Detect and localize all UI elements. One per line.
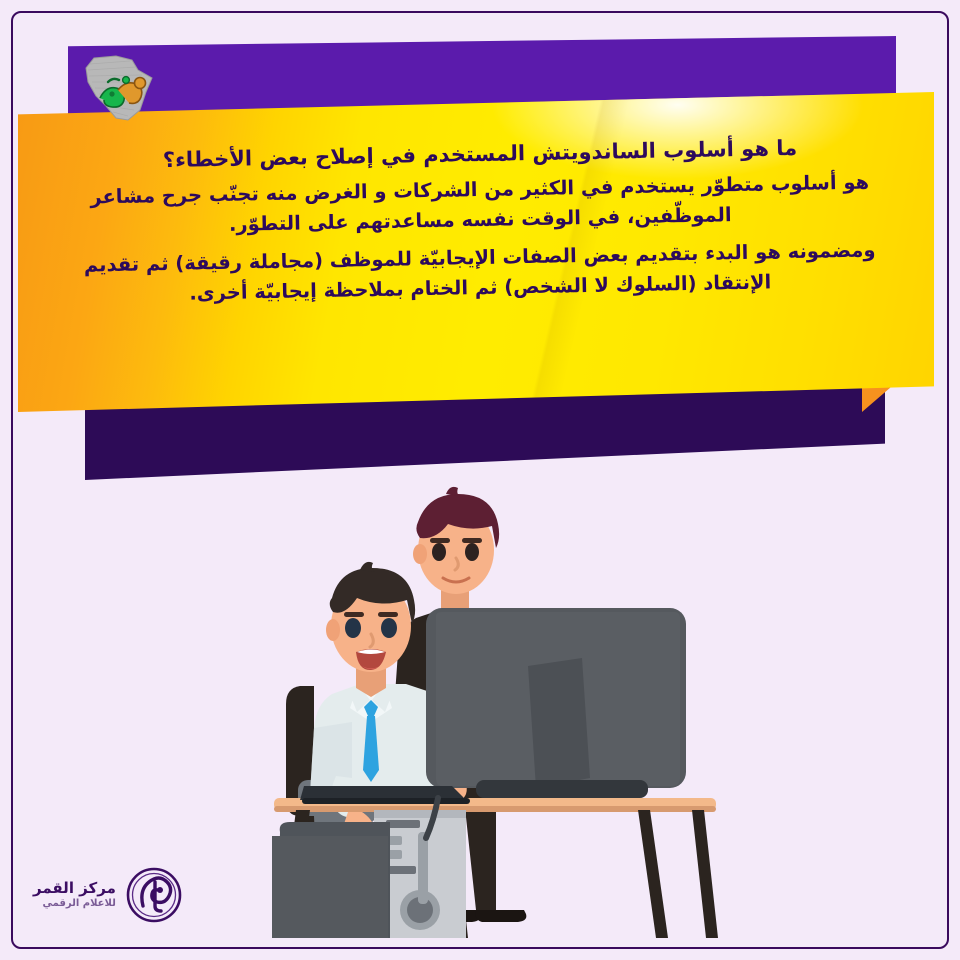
banner: ما هو أسلوب الساندويتش المستخدم في إصلاح… xyxy=(0,0,960,500)
banner-text-block: ما هو أسلوب الساندويتش المستخدم في إصلاح… xyxy=(60,140,900,303)
footer-brand-subtitle: للاعلام الرقمي xyxy=(33,899,116,909)
dawn-iraqi-logo xyxy=(66,48,186,128)
footer-brand-name: مركز القمر xyxy=(33,881,116,896)
illustration-two-men-at-computer xyxy=(240,480,740,960)
keyboard xyxy=(300,786,470,804)
monitor xyxy=(426,608,686,798)
poster-canvas: ما هو أسلوب الساندويتش المستخدم في إصلاح… xyxy=(0,0,960,960)
banner-paragraph-1: هو أسلوب متطوّر يستخدم في الكثير من الشر… xyxy=(59,167,900,244)
footer-brand-text: مركز القمر للاعلام الرقمي xyxy=(33,881,116,909)
banner-paragraph-2: ومضمونه هو البدء بتقديم بعض الصفات الإيج… xyxy=(59,235,900,312)
footer-brand: مركز القمر للاعلام الرقمي xyxy=(33,866,183,924)
al-qamar-logo-icon xyxy=(125,866,183,924)
